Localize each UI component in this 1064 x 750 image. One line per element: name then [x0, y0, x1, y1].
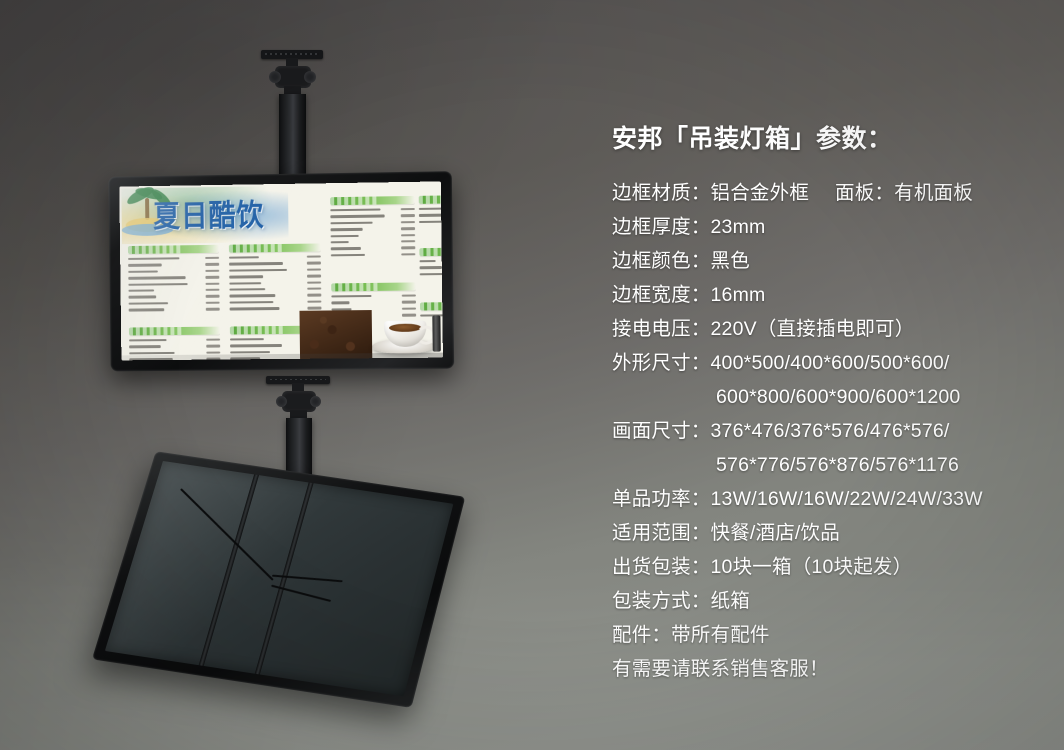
background-vignette: [0, 0, 1064, 750]
product-photo-scene: 夏日酷饮: [0, 0, 1064, 750]
